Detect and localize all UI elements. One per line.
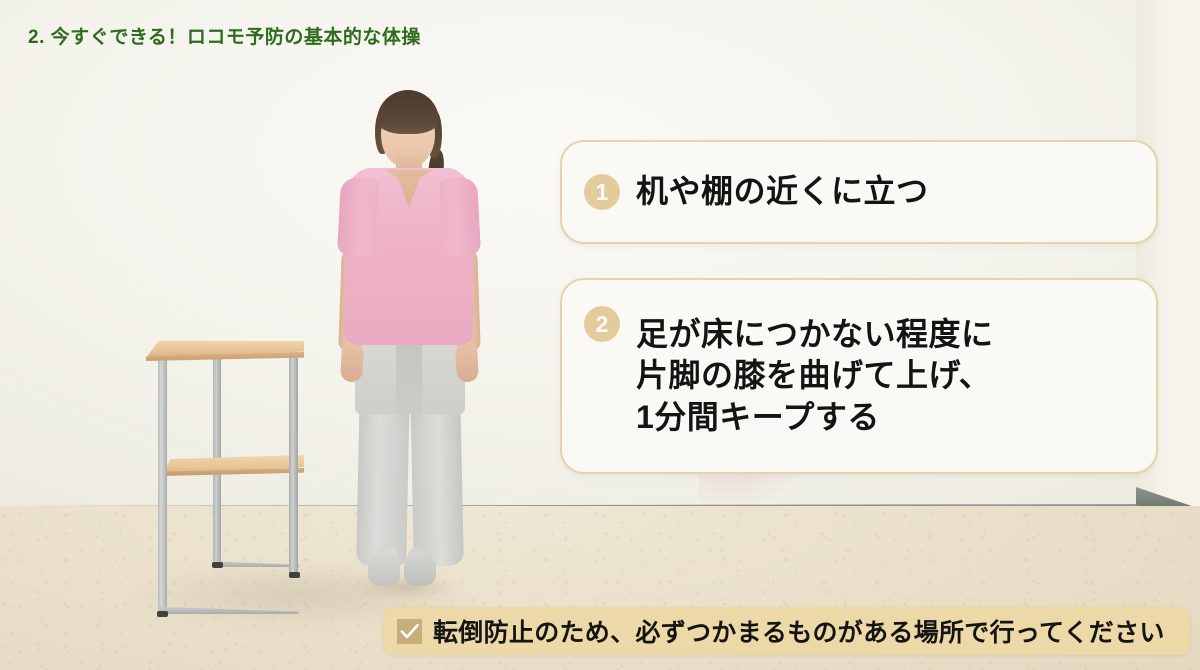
person-hand-right — [455, 343, 479, 382]
step-text-1: 机や棚の近くに立つ — [636, 171, 929, 213]
table-leg-front-right — [289, 352, 298, 576]
person-sock-right — [404, 556, 436, 586]
table-foot-1 — [157, 611, 168, 617]
checkbox-checked-icon — [397, 619, 422, 644]
shirt-sleeve-right — [439, 177, 481, 257]
safety-note-banner[interactable]: 転倒防止のため、必ずつかまるものがある場所で行ってください — [383, 607, 1190, 655]
person-hand-left — [340, 343, 364, 382]
step-card-1[interactable]: 1 机や棚の近くに立つ — [560, 140, 1158, 244]
step-number-badge-1: 1 — [584, 174, 620, 210]
step-text-2: 足が床につかない程度に 片脚の膝を曲げて上げ、 1分間キープする — [636, 314, 994, 439]
step-card-2[interactable]: 2 足が床につかない程度に 片脚の膝を曲げて上げ、 1分間キープする — [560, 278, 1158, 474]
person-sock-left — [368, 556, 400, 586]
step-number-badge-2: 2 — [584, 306, 620, 342]
slide-canvas: 2. 今すぐできる！ロコモ予防の基本的な体操 1 机や棚の近くに立つ 2 足が床… — [0, 0, 1200, 670]
table-foot-2 — [289, 572, 300, 578]
page-title: 2. 今すぐできる！ロコモ予防の基本的な体操 — [28, 22, 421, 49]
leggings-shading — [396, 340, 422, 430]
table-foot-3 — [212, 562, 223, 568]
table-leg-back-left — [213, 348, 221, 566]
table-leg-front-left — [158, 356, 167, 613]
shirt-sleeve-left — [337, 177, 379, 257]
safety-note-text: 転倒防止のため、必ずつかまるものがある場所で行ってください — [433, 613, 1165, 649]
